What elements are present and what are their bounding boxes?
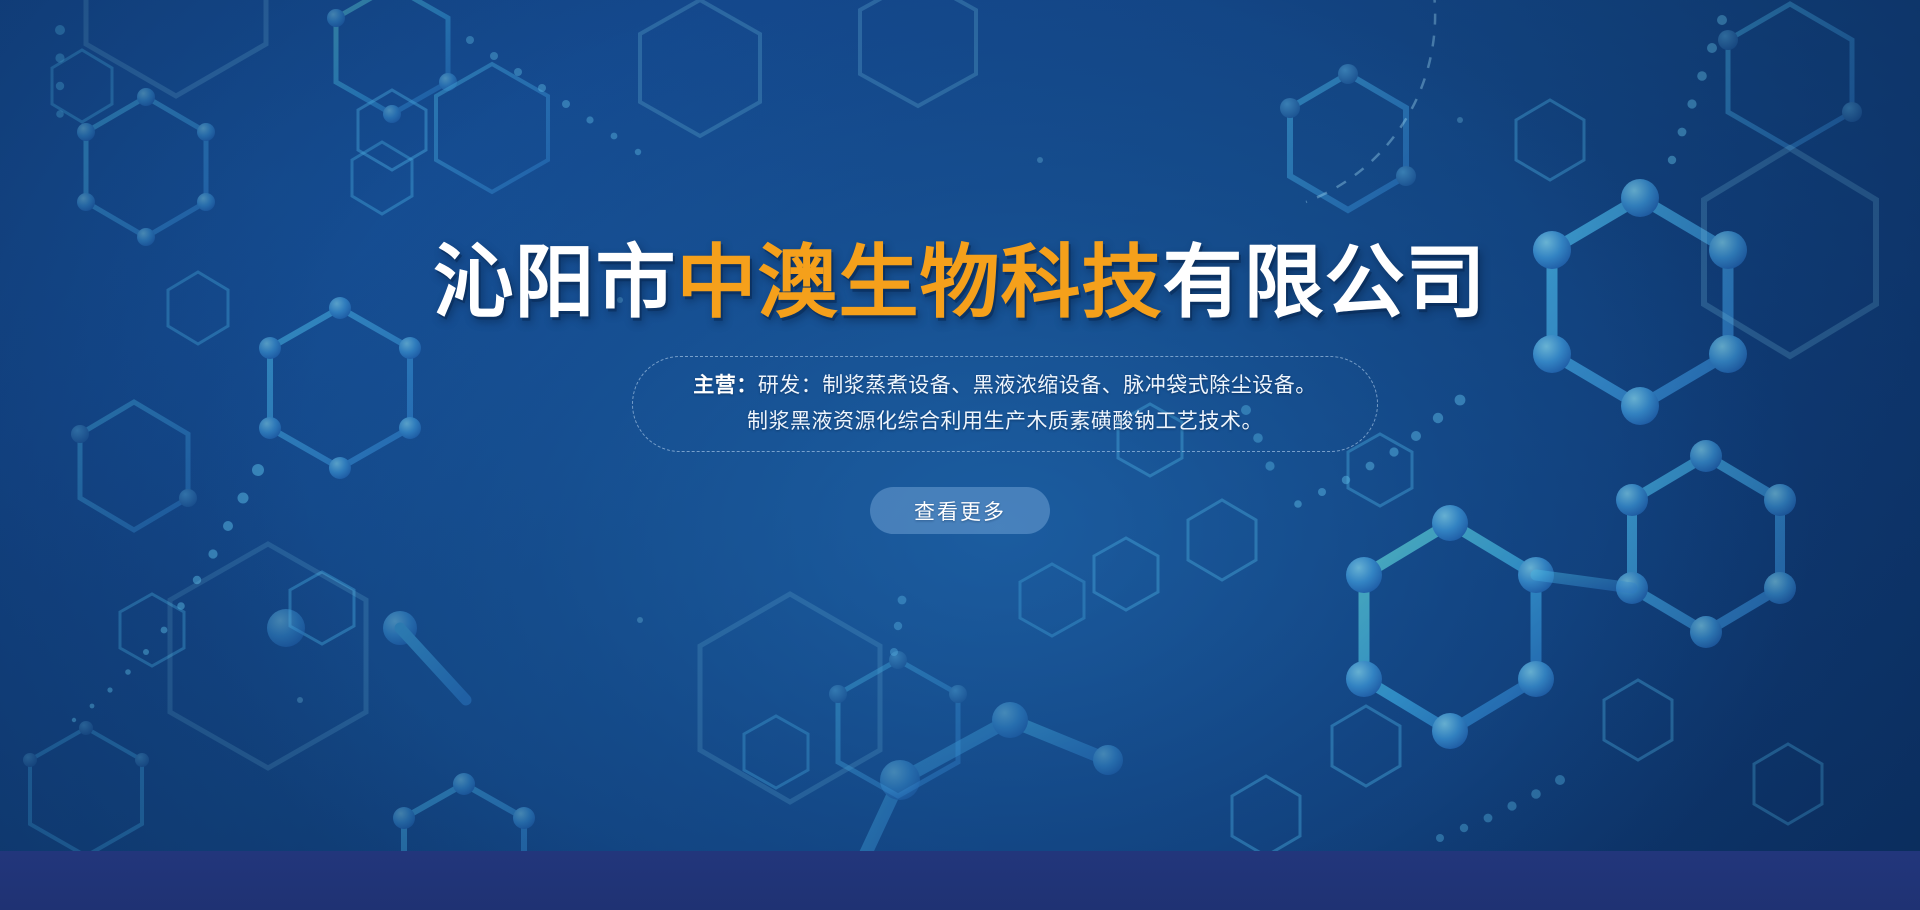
title-segment-suffix: 有限公司 <box>1163 238 1487 327</box>
tagline-box: 主营：研发：制浆蒸煮设备、黑液浓缩设备、脉冲袋式除尘设备。 制浆黑液资源化综合利… <box>632 356 1378 452</box>
tagline-lead: 主营： <box>693 374 758 397</box>
title-segment-prefix: 沁阳市 <box>434 238 677 327</box>
tagline-line-1-rest: 研发：制浆蒸煮设备、黑液浓缩设备、脉冲袋式除尘设备。 <box>758 374 1317 397</box>
bottom-band <box>0 851 1920 910</box>
view-more-button[interactable]: 查看更多 <box>870 487 1050 534</box>
hero-banner: 沁阳市中澳生物科技有限公司 主营：研发：制浆蒸煮设备、黑液浓缩设备、脉冲袋式除尘… <box>0 0 1920 851</box>
tagline-line-1: 主营：研发：制浆蒸煮设备、黑液浓缩设备、脉冲袋式除尘设备。 <box>693 371 1317 401</box>
tagline-line-2: 制浆黑液资源化综合利用生产木质素磺酸钠工艺技术。 <box>747 407 1263 437</box>
page-title: 沁阳市中澳生物科技有限公司 <box>0 243 1920 323</box>
cta-wrapper: 查看更多 <box>0 487 1920 534</box>
title-segment-accent: 中澳生物科技 <box>677 238 1163 327</box>
